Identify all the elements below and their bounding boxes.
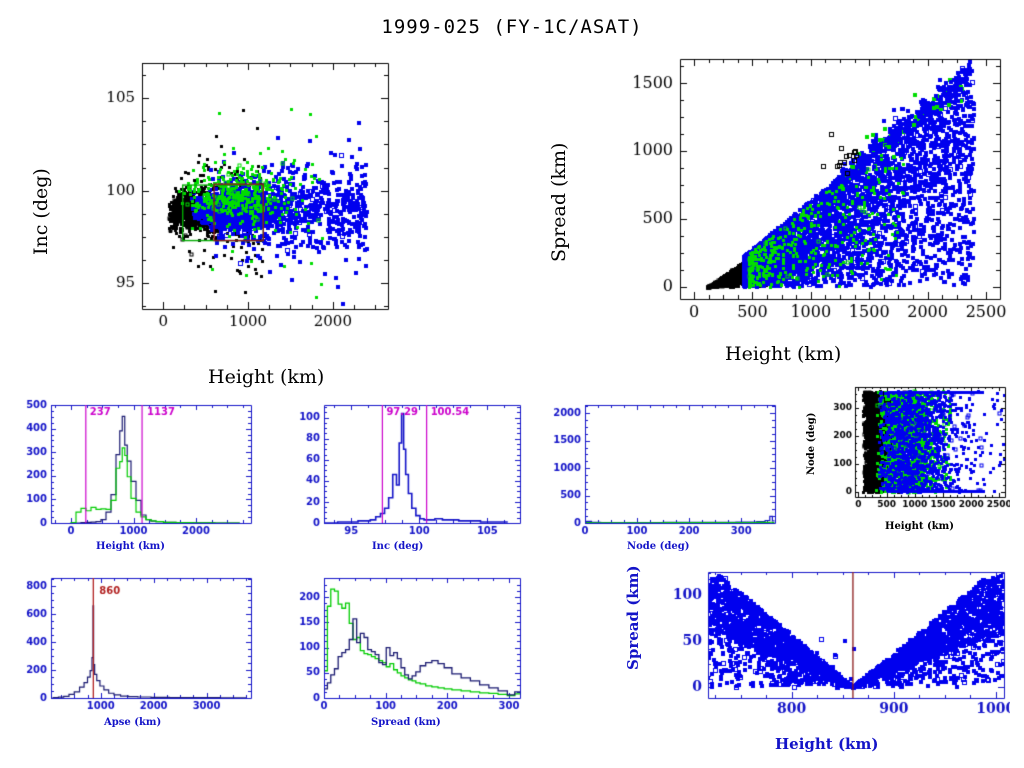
spread-hist-xlabel: Spread (km) [371,717,441,728]
panel-apse-hist [18,568,258,713]
panel-spread-vs-height-zoom [664,566,1010,718]
node-vs-height-ylabel: Node (deg) [806,413,817,475]
inc-vs-height-xlabel: Height (km) [208,366,324,388]
node-histogram-plot [551,397,781,537]
apse-hist-xlabel: Apse (km) [104,717,161,728]
spread-vs-height-xlabel: Height (km) [725,343,841,365]
panel-spread-vs-height [612,55,1012,325]
node-hist-xlabel: Node (deg) [627,541,689,552]
spread-histogram-plot [292,568,527,713]
apse-histogram-plot [18,568,258,713]
height-hist-xlabel: Height (km) [96,541,165,552]
inc-vs-height-ylabel: Inc (deg) [30,168,52,255]
spread-vs-height-plot [612,55,1012,325]
panel-spread-hist [292,568,527,713]
height-histogram-plot [18,397,258,537]
panel-node-hist [551,397,781,537]
panel-height-hist [18,397,258,537]
panel-node-vs-height [824,381,1010,517]
inc-hist-xlabel: Inc (deg) [372,541,423,552]
panel-inc-vs-height [100,55,397,333]
figure-canvas: 1999-025 (FY-1C/ASAT) Height (km) Inc (d… [0,0,1024,768]
figure-title: 1999-025 (FY-1C/ASAT) [0,16,1024,38]
spread-vs-height-ylabel: Spread (km) [548,143,570,262]
inc-histogram-plot [292,397,527,537]
spread-vs-height-zoom-xlabel: Height (km) [775,735,878,753]
node-vs-height-xlabel: Height (km) [885,521,954,532]
spread-vs-height-zoom-ylabel: Spread (km) [624,565,642,670]
inc-vs-height-plot [100,55,397,333]
spread-vs-height-zoom-plot [664,566,1010,718]
panel-inc-hist [292,397,527,537]
node-vs-height-plot [824,381,1010,517]
